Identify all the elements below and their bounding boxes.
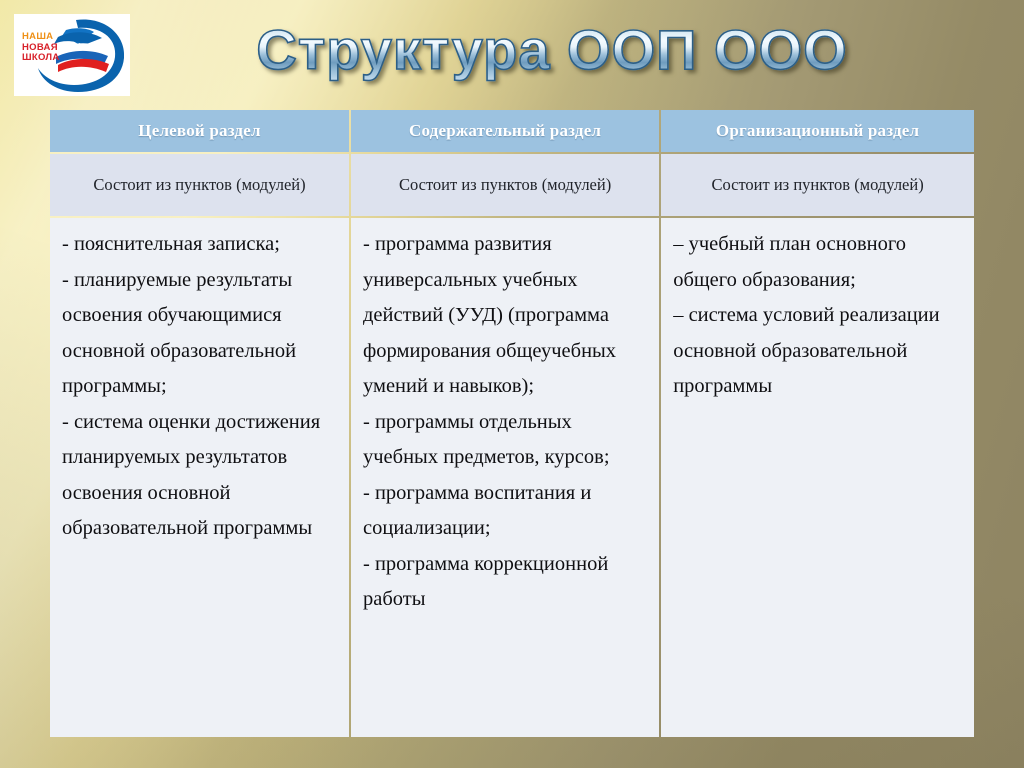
logo-line-1: НАША bbox=[22, 32, 60, 43]
table-header-row: Целевой раздел Содержательный раздел Орг… bbox=[50, 110, 974, 152]
table-subheader-row: Состоит из пунктов (модулей) Состоит из … bbox=[50, 154, 974, 216]
list-item: - программа коррекционной работы bbox=[363, 547, 649, 618]
column-subheader-target: Состоит из пунктов (модулей) bbox=[50, 154, 349, 216]
column-body-target: - пояснительная записка; - планируемые р… bbox=[50, 218, 349, 737]
structure-table: Целевой раздел Содержательный раздел Орг… bbox=[48, 108, 976, 739]
column-body-content: - программа развития универсальных учебн… bbox=[351, 218, 659, 737]
logo-line-3: ШКОЛА bbox=[22, 53, 60, 64]
list-item: - программы отдельных учебных предметов,… bbox=[363, 405, 649, 476]
list-item: - программа развития универсальных учебн… bbox=[363, 227, 649, 405]
table-body-row: - пояснительная записка; - планируемые р… bbox=[50, 218, 974, 737]
list-item: – учебный план основного общего образова… bbox=[673, 227, 964, 298]
list-item: - планируемые результаты освоения обучаю… bbox=[62, 263, 339, 405]
column-body-organizational: – учебный план основного общего образова… bbox=[661, 218, 974, 737]
logo-wordmark: НАША НОВАЯ ШКОЛА bbox=[22, 32, 60, 64]
column-header-target: Целевой раздел bbox=[50, 110, 349, 152]
logo-nasha-novaya-shkola: НАША НОВАЯ ШКОЛА bbox=[14, 14, 130, 96]
slide-title: Структура ООП ООО bbox=[0, 17, 1024, 82]
column-subheader-organizational: Состоит из пунктов (модулей) bbox=[661, 154, 974, 216]
column-header-organizational: Организационный раздел bbox=[661, 110, 974, 152]
structure-table-container: Целевой раздел Содержательный раздел Орг… bbox=[48, 108, 976, 739]
list-item: - система оценки достижения планируемых … bbox=[62, 405, 339, 547]
column-subheader-content: Состоит из пунктов (модулей) bbox=[351, 154, 659, 216]
list-item: – система условий реализации основной об… bbox=[673, 298, 964, 405]
list-item: - пояснительная записка; bbox=[62, 227, 339, 263]
column-header-content: Содержательный раздел bbox=[351, 110, 659, 152]
list-item: - программа воспитания и социализации; bbox=[363, 476, 649, 547]
slide-canvas: НАША НОВАЯ ШКОЛА Структура ООП ООО Целев… bbox=[0, 0, 1024, 768]
